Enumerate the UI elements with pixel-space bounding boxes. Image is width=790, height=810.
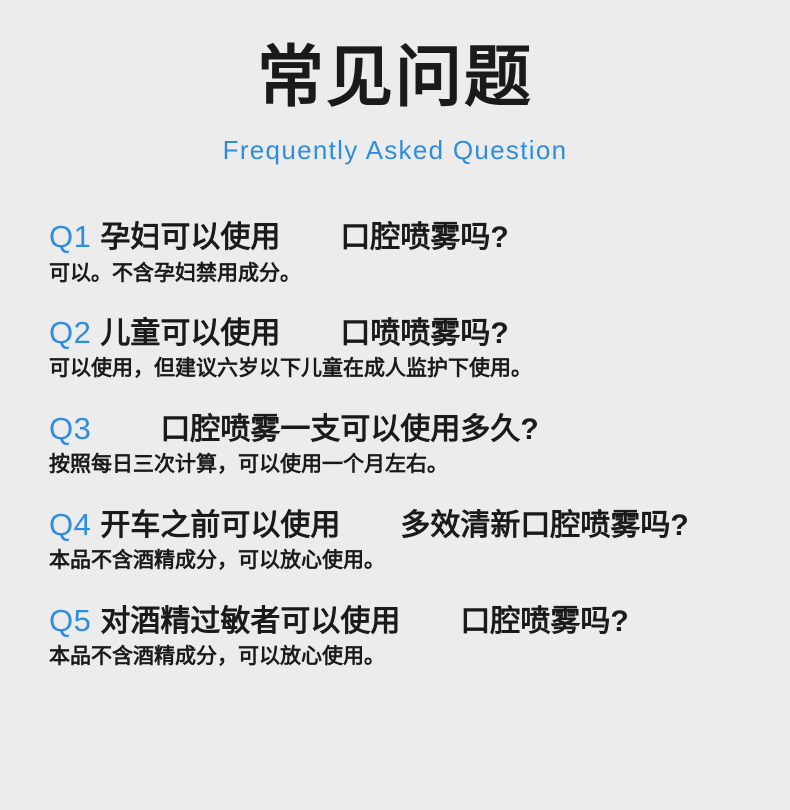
faq-question-row: Q4 开车之前可以使用 多效清新口腔喷雾吗?: [49, 507, 770, 544]
faq-question-row: Q3 口腔喷雾一支可以使用多久?: [49, 411, 770, 448]
faq-page: 常见问题 Frequently Asked Question Q1 孕妇可以使用…: [0, 0, 790, 810]
faq-question-text: 孕妇可以使用 口腔喷雾吗?: [100, 220, 508, 255]
faq-item: Q2 儿童可以使用 口喷喷雾吗? 可以使用，但建议六岁以下儿童在成人监护下使用。: [0, 315, 790, 383]
faq-answer-text: 可以使用，但建议六岁以下儿童在成人监护下使用。: [49, 351, 770, 382]
faq-question-tag: Q1: [49, 219, 91, 256]
faq-item: Q4 开车之前可以使用 多效清新口腔喷雾吗? 本品不含酒精成分，可以放心使用。: [0, 507, 790, 575]
faq-item: Q3 口腔喷雾一支可以使用多久? 按照每日三次计算，可以使用一个月左右。: [0, 411, 790, 479]
faq-question-row: Q2 儿童可以使用 口喷喷雾吗?: [49, 315, 770, 352]
faq-answer-text: 本品不含酒精成分，可以放心使用。: [49, 639, 770, 670]
faq-item: Q1 孕妇可以使用 口腔喷雾吗? 可以。不含孕妇禁用成分。: [0, 219, 790, 287]
faq-question-tag: Q5: [49, 603, 91, 640]
faq-question-text: 口腔喷雾一支可以使用多久?: [100, 412, 538, 447]
faq-question-text: 儿童可以使用 口喷喷雾吗?: [100, 316, 508, 351]
faq-question-text: 对酒精过敏者可以使用 口腔喷雾吗?: [100, 604, 628, 639]
faq-question-tag: Q4: [49, 507, 91, 544]
faq-answer-text: 本品不含酒精成分，可以放心使用。: [49, 543, 770, 574]
faq-answer-text: 可以。不含孕妇禁用成分。: [49, 256, 770, 287]
faq-question-tag: Q2: [49, 315, 91, 352]
faq-question-row: Q1 孕妇可以使用 口腔喷雾吗?: [49, 219, 770, 256]
faq-question-row: Q5 对酒精过敏者可以使用 口腔喷雾吗?: [49, 603, 770, 640]
faq-item: Q5 对酒精过敏者可以使用 口腔喷雾吗? 本品不含酒精成分，可以放心使用。: [0, 603, 790, 671]
page-header: 常见问题 Frequently Asked Question: [0, 0, 790, 163]
faq-answer-text: 按照每日三次计算，可以使用一个月左右。: [49, 447, 770, 478]
faq-question-tag: Q3: [49, 411, 91, 448]
page-title: 常见问题: [0, 44, 790, 111]
faq-question-text: 开车之前可以使用 多效清新口腔喷雾吗?: [100, 508, 688, 543]
faq-list: Q1 孕妇可以使用 口腔喷雾吗? 可以。不含孕妇禁用成分。 Q2 儿童可以使用 …: [0, 163, 790, 670]
page-subtitle: Frequently Asked Question: [0, 111, 790, 163]
